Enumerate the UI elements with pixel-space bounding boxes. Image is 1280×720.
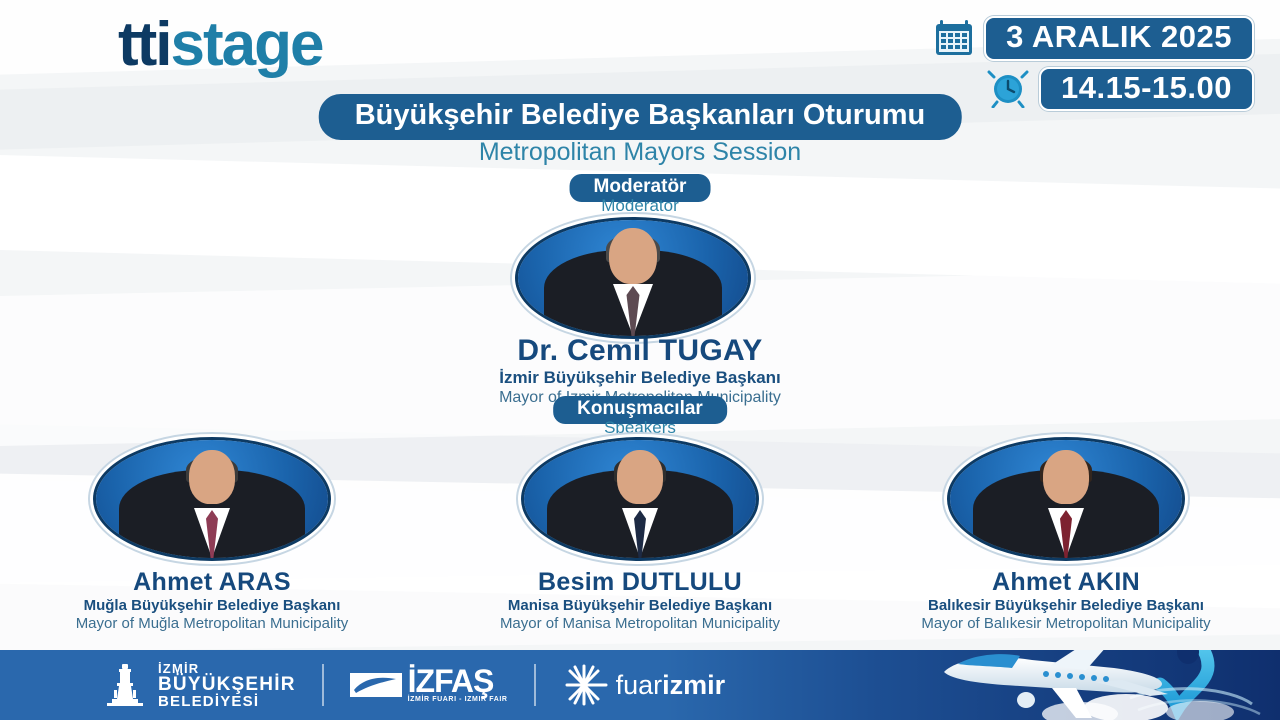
- speaker-title-en: Mayor of Manisa Metropolitan Municipalit…: [425, 615, 855, 634]
- event-date-badge: 3 ARALIK 2025: [984, 16, 1254, 61]
- moderator-section-subtitle: Moderator: [601, 196, 678, 216]
- alarm-clock-icon: [987, 70, 1029, 108]
- speaker-name-block: Ahmet AKIN Balıkesir Büyükşehir Belediye…: [851, 568, 1280, 634]
- speaker-title-tr: Balıkesir Büyükşehir Belediye Başkanı: [851, 597, 1280, 615]
- footer-divider: [322, 664, 324, 706]
- calendar-icon: [934, 19, 974, 57]
- event-poster: ttistage 3 ARALIK 2025: [0, 0, 1280, 720]
- time-row: 14.15-15.00: [987, 67, 1254, 112]
- izmir-logo-line1: İZMİR: [158, 662, 296, 675]
- speaker-title-tr: Manisa Büyükşehir Belediye Başkanı: [425, 597, 855, 615]
- date-row: 3 ARALIK 2025: [934, 16, 1254, 61]
- lighthouse-icon: [104, 662, 146, 708]
- footer-logo-group: İZMİR BÜYÜKŞEHİR BELEDİYESİ İZFAŞ İZMİR …: [0, 662, 725, 709]
- izfas-tagline: İZMİR FUARI - IZMIR FAIR: [408, 696, 508, 703]
- speaker-name-block: Besim DUTLULU Manisa Büyükşehir Belediye…: [425, 568, 855, 634]
- moderator-name: Dr. Cemil TUGAY: [499, 334, 781, 368]
- starburst-icon: [562, 663, 608, 707]
- footer-bar: İZMİR BÜYÜKŞEHİR BELEDİYESİ İZFAŞ İZMİR …: [0, 650, 1280, 720]
- speaker-avatar: [950, 440, 1182, 558]
- speaker-title-en: Mayor of Balıkesir Metropolitan Municipa…: [851, 615, 1280, 634]
- page-title: Büyükşehir Belediye Başkanları Oturumu: [319, 94, 962, 140]
- speaker-avatar: [96, 440, 328, 558]
- logo-stage-text: stage: [171, 10, 323, 79]
- page-subtitle: Metropolitan Mayors Session: [479, 138, 801, 167]
- speaker-name: Ahmet AKIN: [851, 568, 1280, 597]
- fuarizmir-wordmark-bold: izmir: [662, 670, 725, 700]
- izmir-logo-line3: BELEDİYESİ: [158, 694, 296, 709]
- speaker-name-block: Ahmet ARAS Muğla Büyükşehir Belediye Baş…: [0, 568, 427, 634]
- speakers-section-subtitle: Speakers: [604, 418, 676, 438]
- moderator-title-tr: İzmir Büyükşehir Belediye Başkanı: [499, 368, 781, 388]
- izfas-wordmark: İZFAŞ: [408, 667, 508, 696]
- izmir-logo-line2: BÜYÜKŞEHİR: [158, 675, 296, 694]
- speaker-avatar: [524, 440, 756, 558]
- izmir-municipality-logo: İZMİR BÜYÜKŞEHİR BELEDİYESİ: [104, 662, 296, 709]
- izfas-logo: İZFAŞ İZMİR FUARI - IZMIR FAIR: [350, 667, 508, 703]
- airplane-and-location-pin-illustration: [900, 650, 1280, 720]
- date-time-block: 3 ARALIK 2025 14.15-15.00: [934, 16, 1254, 111]
- speaker-name: Ahmet ARAS: [0, 568, 427, 597]
- speaker-title-tr: Muğla Büyükşehir Belediye Başkanı: [0, 597, 427, 615]
- tti-stage-logo: ttistage: [118, 14, 323, 76]
- footer-divider: [534, 664, 536, 706]
- speaker-title-en: Mayor of Muğla Metropolitan Municipality: [0, 615, 427, 634]
- moderator-avatar: [518, 220, 748, 336]
- logo-tti-text: tti: [118, 10, 171, 79]
- event-time-badge: 14.15-15.00: [1039, 67, 1254, 112]
- fuarizmir-wordmark-light: fuar: [616, 670, 663, 700]
- bird-swoosh-icon: [350, 670, 402, 700]
- speaker-name: Besim DUTLULU: [425, 568, 855, 597]
- fuarizmir-logo: fuarizmir: [562, 663, 726, 707]
